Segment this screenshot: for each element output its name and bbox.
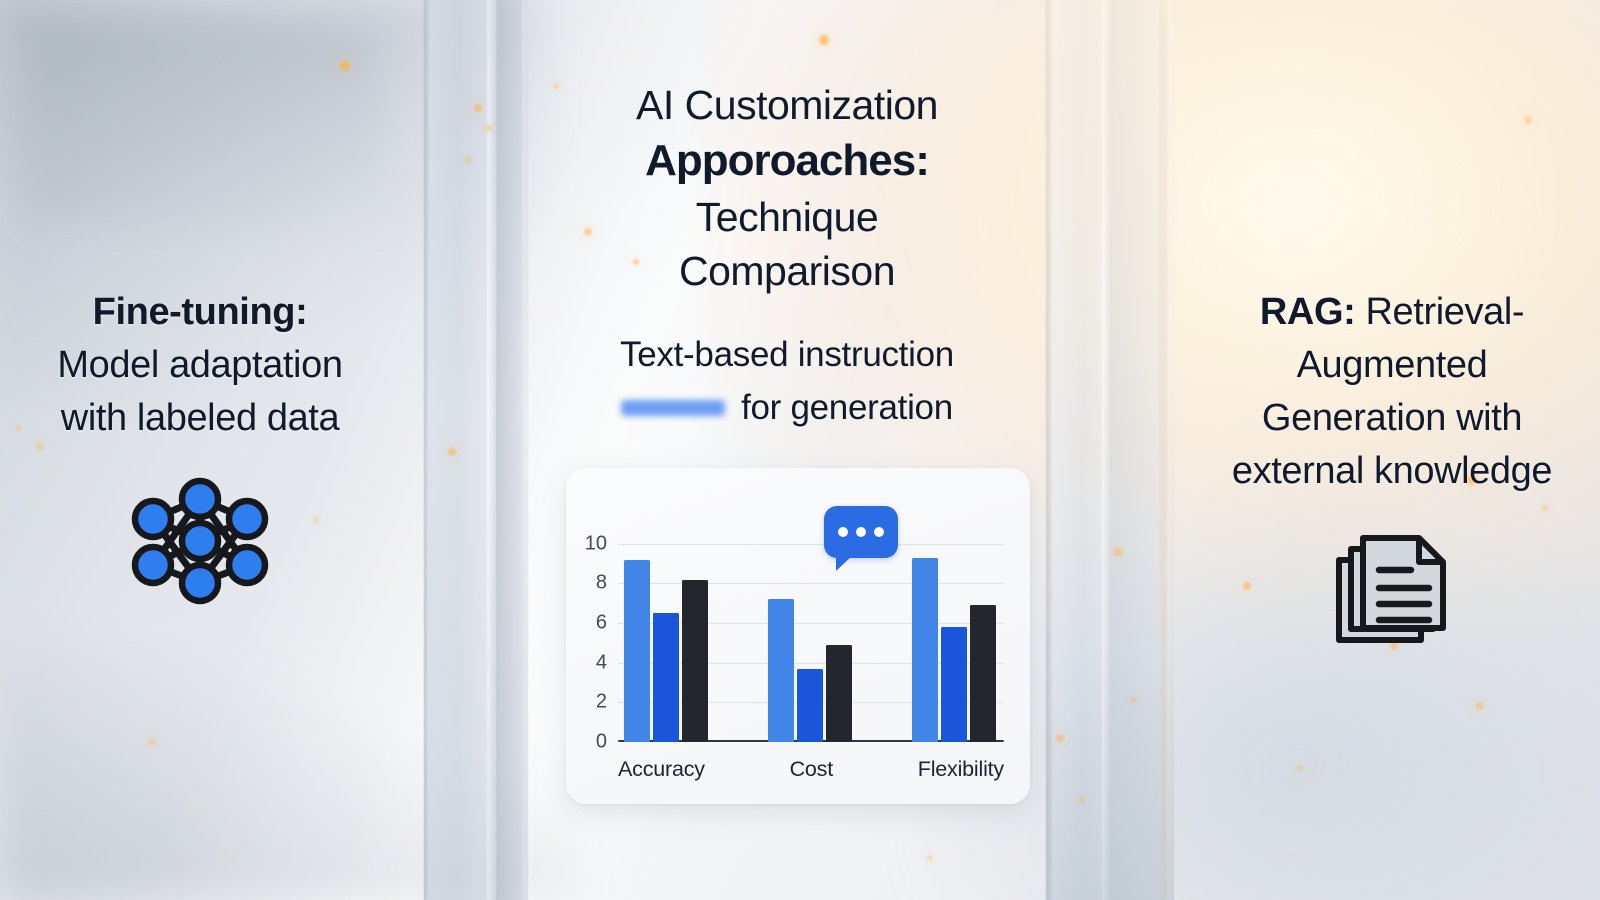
bokeh-speck [1297, 765, 1303, 771]
left-panel-heading-line2: Model adaptation [57, 344, 342, 386]
right-panel-heading-line2: Augmented [1172, 339, 1600, 392]
right-panel-heading-line1-rest: Retrieval- [1355, 291, 1524, 333]
right-panel-heading-line4: external knowledge [1172, 445, 1600, 498]
chart-x-axis-labels: AccuracyCostFlexibility [618, 757, 1004, 782]
chat-dot-1 [838, 527, 848, 537]
chart-y-tick-label: 2 [596, 691, 607, 714]
window-mullion-left [424, 0, 528, 900]
right-panel-heading-line1: RAG: Retrieval- [1172, 286, 1600, 339]
center-panel: AI Customization Apporoaches: Technique … [528, 78, 1046, 434]
left-panel-heading: Fine-tuning: Model adaptation with label… [0, 286, 400, 445]
title-line-2-bold: Apporoaches: [528, 132, 1046, 190]
neural-network-icon [0, 477, 400, 605]
bokeh-speck [465, 157, 471, 163]
bar-chart-card: 1086420 AccuracyCostFlexibility [566, 468, 1030, 804]
bokeh-speck [1056, 734, 1064, 742]
right-panel: RAG: Retrieval- Augmented Generation wit… [1172, 286, 1600, 650]
bokeh-speck [474, 104, 482, 112]
chart-x-tick-label: Flexibility [918, 757, 1004, 782]
bokeh-speck [927, 855, 933, 861]
bokeh-speck [1079, 797, 1085, 803]
subtitle-line-2: for generation [741, 381, 953, 434]
chart-bar [768, 599, 794, 742]
chat-bubble-dots [824, 506, 898, 558]
bokeh-speck [1114, 548, 1122, 556]
page-title: AI Customization Apporoaches: Technique … [528, 78, 1046, 298]
bokeh-speck [448, 448, 456, 456]
chart-y-tick-label: 6 [596, 612, 607, 635]
chat-dot-3 [874, 527, 884, 537]
redaction-bar [621, 400, 725, 416]
bokeh-speck [1476, 702, 1484, 710]
bokeh-speck [819, 35, 829, 45]
left-panel-heading-bold: Fine-tuning: [93, 291, 308, 333]
neural-network-icon-svg [126, 477, 274, 605]
title-line-4: Comparison [528, 244, 1046, 298]
right-panel-heading-bold: RAG: [1260, 291, 1356, 333]
chart-bar [912, 558, 938, 742]
bokeh-speck [1524, 116, 1532, 124]
bokeh-speck [486, 125, 492, 131]
subtitle-line-1: Text-based instruction [528, 328, 1046, 381]
left-panel: Fine-tuning: Model adaptation with label… [0, 286, 400, 605]
chart-bar [624, 560, 650, 742]
documents-stack-icon-svg [1329, 530, 1455, 650]
chart-bar [941, 627, 967, 742]
right-panel-heading: RAG: Retrieval- Augmented Generation wit… [1172, 286, 1600, 498]
left-panel-heading-line3: with labeled data [61, 397, 339, 439]
chat-bubble-tail [836, 556, 852, 571]
chat-dot-2 [856, 527, 866, 537]
title-line-1: AI Customization [528, 78, 1046, 132]
chart-bar [826, 645, 852, 742]
chart-y-tick-label: 4 [596, 651, 607, 674]
chart-y-tick-label: 10 [585, 532, 607, 555]
subtitle-line-2-row: for generation [528, 381, 1046, 434]
bokeh-speck [148, 738, 156, 746]
chart-bar [970, 605, 996, 742]
window-mullion-right [1046, 0, 1174, 900]
chart-y-tick-label: 0 [596, 731, 607, 754]
chart-y-tick-label: 8 [596, 572, 607, 595]
bokeh-speck [340, 61, 350, 71]
chart-bar [682, 580, 708, 742]
bokeh-speck [1131, 697, 1137, 703]
chart-bar-group [768, 599, 852, 742]
chart-plot-area: 1086420 [618, 528, 1004, 742]
documents-stack-icon [1172, 530, 1600, 650]
page-subtitle: Text-based instruction for generation [528, 328, 1046, 434]
chat-bubble-icon [824, 506, 898, 558]
chart-bar-group [624, 560, 708, 742]
chart-x-tick-label: Accuracy [618, 757, 705, 782]
right-panel-heading-line3: Generation with [1172, 392, 1600, 445]
chart-bar [653, 613, 679, 742]
chart-bar [797, 669, 823, 742]
chart-x-tick-label: Cost [790, 757, 833, 782]
chart-bar-groups [618, 528, 1004, 742]
title-line-3: Technique [528, 190, 1046, 244]
chart-bar-group [912, 558, 996, 742]
